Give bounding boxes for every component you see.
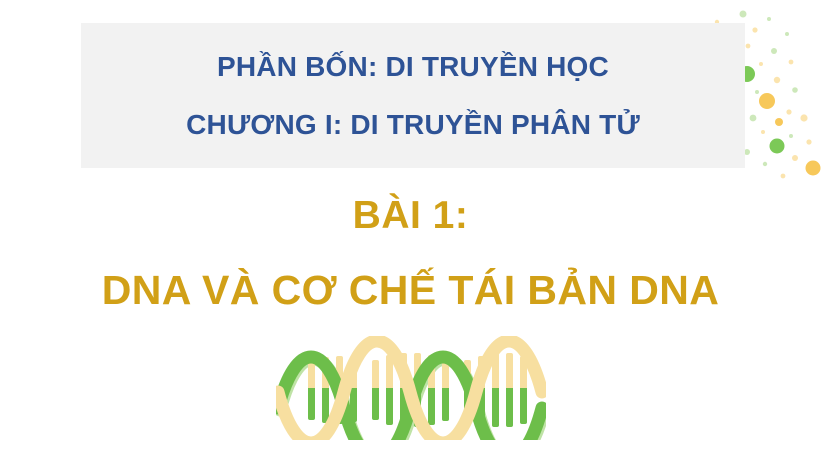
confetti-dot: [740, 11, 747, 18]
confetti-dot: [767, 17, 771, 21]
confetti-dot: [792, 155, 798, 161]
confetti-dot: [775, 118, 783, 126]
confetti-dot: [789, 60, 794, 65]
confetti-dot: [755, 90, 759, 94]
confetti-dot: [806, 139, 811, 144]
slide-canvas: PHẦN BỐN: DI TRUYỀN HỌC CHƯƠNG I: DI TRU…: [0, 0, 821, 451]
lesson-number-heading: BÀI 1:: [0, 196, 821, 235]
header-banner: PHẦN BỐN: DI TRUYỀN HỌC CHƯƠNG I: DI TRU…: [81, 23, 745, 168]
confetti-dot: [781, 174, 786, 179]
confetti-dot: [786, 109, 791, 114]
confetti-dot: [759, 62, 763, 66]
confetti-dot: [785, 32, 789, 36]
confetti-dot: [746, 44, 751, 49]
confetti-dot: [752, 27, 757, 32]
confetti-dot: [770, 139, 785, 154]
confetti-dot: [789, 134, 793, 138]
confetti-dot: [763, 162, 767, 166]
confetti-dot: [771, 48, 777, 54]
confetti-dot: [750, 115, 757, 122]
banner-line-chapter-heading: CHƯƠNG I: DI TRUYỀN PHÂN TỬ: [186, 110, 640, 139]
confetti-dot: [800, 114, 807, 121]
confetti-dot: [792, 87, 798, 93]
confetti-dot: [761, 130, 765, 134]
confetti-dot: [759, 93, 775, 109]
confetti-dot: [774, 77, 780, 83]
banner-line-part-heading: PHẦN BỐN: DI TRUYỀN HỌC: [217, 52, 609, 81]
dna-double-helix-illustration: [276, 336, 546, 440]
lesson-title-heading: DNA VÀ CƠ CHẾ TÁI BẢN DNA: [0, 270, 821, 311]
confetti-dot: [806, 161, 821, 176]
